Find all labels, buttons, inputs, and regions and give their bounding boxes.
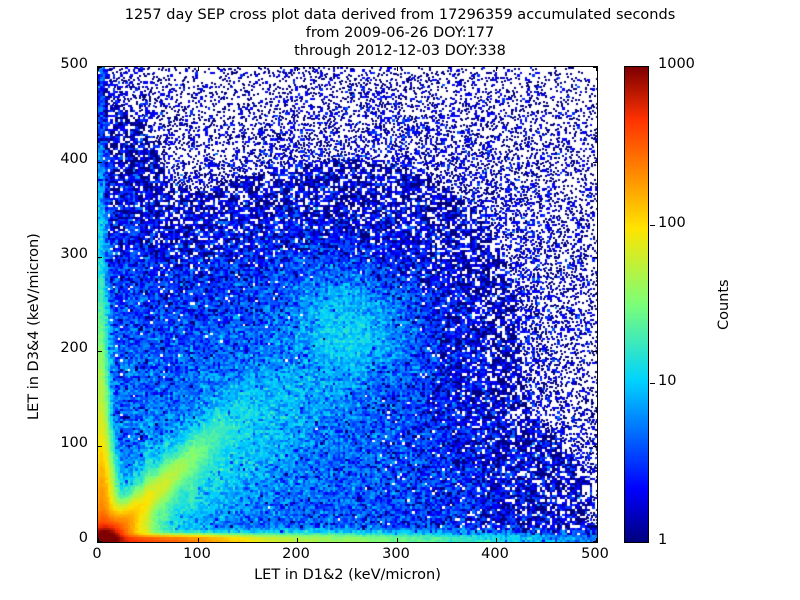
y-tick [593, 351, 597, 352]
y-axis-title: LET in D3&4 (keV/micron) [26, 233, 42, 420]
x-tick-label: 300 [361, 546, 431, 562]
x-tick [496, 538, 497, 542]
x-tick [297, 67, 298, 71]
colorbar-tick [650, 225, 655, 226]
colorbar-tick-label: 10 [658, 373, 676, 389]
plot-area [97, 66, 598, 543]
y-tick [98, 257, 102, 258]
chart-page: 1257 day SEP cross plot data derived fro… [0, 0, 800, 600]
y-tick-label: 0 [28, 530, 88, 546]
x-tick-label: 100 [162, 546, 232, 562]
y-tick-label: 100 [28, 435, 88, 451]
x-tick [297, 538, 298, 542]
y-tick [98, 351, 102, 352]
y-tick [593, 446, 597, 447]
y-tick [593, 257, 597, 258]
density-heatmap-canvas [98, 67, 597, 542]
page-title: 1257 day SEP cross plot data derived fro… [0, 6, 800, 60]
x-tick [198, 538, 199, 542]
y-tick [593, 67, 597, 68]
y-tick [98, 162, 102, 163]
title-line-2: from 2009-06-26 DOY:177 [0, 24, 800, 42]
x-tick [198, 67, 199, 71]
colorbar-tick-label: 1000 [658, 56, 695, 72]
y-tick [98, 67, 102, 68]
y-tick-label: 500 [28, 56, 88, 72]
x-axis-title: LET in D1&2 (keV/micron) [97, 567, 598, 583]
colorbar-title: Counts [716, 279, 732, 330]
x-tick-label: 400 [460, 546, 530, 562]
y-tick-label: 400 [28, 151, 88, 167]
y-tick [593, 541, 597, 542]
colorbar-tick [650, 383, 655, 384]
colorbar-gradient [625, 67, 648, 542]
x-tick [397, 538, 398, 542]
y-tick [98, 446, 102, 447]
title-line-1: 1257 day SEP cross plot data derived fro… [0, 6, 800, 24]
colorbar-tick-label: 100 [658, 215, 686, 231]
x-tick-label: 200 [261, 546, 331, 562]
colorbar-tick-label: 1 [658, 532, 667, 548]
y-tick [98, 541, 102, 542]
x-tick-label: 0 [62, 546, 132, 562]
x-tick [496, 67, 497, 71]
x-tick-label: 500 [560, 546, 630, 562]
x-tick [397, 67, 398, 71]
colorbar [624, 66, 649, 543]
y-tick [593, 162, 597, 163]
